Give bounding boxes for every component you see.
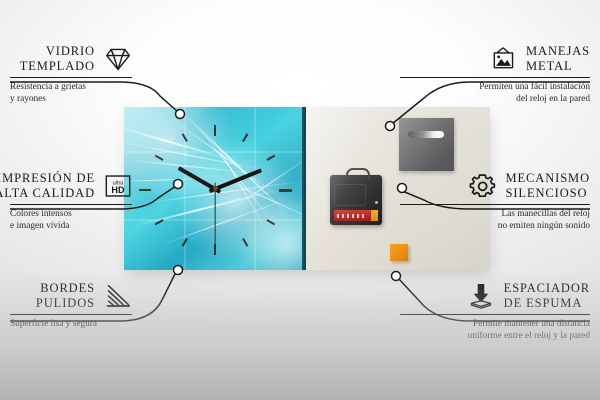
feature-title-line1: VIDRIO bbox=[20, 44, 95, 59]
feature-manejas-metal: MANEJAS METAL Permiten una fácil instala… bbox=[400, 44, 590, 106]
feature-title-line1: BORDES bbox=[36, 281, 95, 296]
feature-title-line1: ESPACIADOR bbox=[504, 281, 590, 296]
feature-desc-line2: y rayones bbox=[10, 94, 132, 106]
feature-title-line2: ALTA CALIDAD bbox=[0, 186, 95, 201]
feature-title: MECANISMO SILENCIOSO bbox=[506, 171, 591, 201]
battery-positive-tip bbox=[371, 210, 378, 221]
feature-underline bbox=[400, 77, 590, 78]
infographic-canvas: VIDRIO TEMPLADO Resistencia a grietas y … bbox=[0, 0, 600, 400]
feature-espaciador-espuma: ESPACIADOR DE ESPUMA Permite mantener un… bbox=[400, 281, 590, 343]
feature-title: VIDRIO TEMPLADO bbox=[20, 44, 95, 74]
glass-pane-seam bbox=[124, 151, 306, 153]
feature-title-line2: SILENCIOSO bbox=[506, 186, 591, 201]
metal-hanger-plate bbox=[399, 118, 454, 171]
feature-desc-line1: Permite mantener una distancia bbox=[400, 319, 590, 331]
glass-pane-seam bbox=[254, 107, 256, 270]
feature-underline bbox=[400, 314, 590, 315]
battery-label-stripes bbox=[337, 214, 367, 218]
hour-tick-9 bbox=[139, 189, 151, 191]
ultra-hd-icon-bottom-text: HD bbox=[111, 185, 125, 195]
diamond-icon bbox=[104, 46, 132, 72]
feature-desc-line1: Permiten una fácil instalación bbox=[400, 82, 590, 94]
feature-title: BORDES PULIDOS bbox=[36, 281, 95, 311]
feature-title-line1: MECANISMO bbox=[506, 171, 591, 186]
clock-center-hub bbox=[213, 186, 218, 191]
feature-desc-line1: Colores intensos bbox=[10, 209, 132, 221]
feature-desc-line1: Las manecillas del reloj bbox=[400, 209, 590, 221]
clock-mechanism-box bbox=[330, 175, 382, 225]
feature-underline bbox=[10, 204, 132, 205]
feature-title: ESPACIADOR DE ESPUMA bbox=[504, 281, 590, 311]
feature-title-line2: DE ESPUMA bbox=[504, 296, 590, 311]
feature-description: Resistencia a grietas y rayones bbox=[10, 82, 132, 105]
hour-tick-12 bbox=[214, 125, 216, 136]
hour-tick-3 bbox=[279, 189, 292, 192]
battery bbox=[334, 210, 378, 221]
feature-title-line1: MANEJAS bbox=[526, 44, 590, 59]
feature-description: Las manecillas del reloj no emiten ningú… bbox=[400, 209, 590, 232]
feature-desc-line2: e imagen vívida bbox=[10, 221, 132, 233]
feature-title-line2: PULIDOS bbox=[36, 296, 95, 311]
hanger-keyhole-slot bbox=[408, 131, 444, 138]
mechanism-panel-seam bbox=[334, 184, 366, 206]
clock-front-panel bbox=[124, 107, 306, 270]
feature-underline bbox=[10, 77, 132, 78]
feature-title: MANEJAS METAL bbox=[526, 44, 590, 74]
feature-bordes-pulidos: BORDES PULIDOS Superficie lisa y segura bbox=[10, 281, 132, 331]
feature-underline bbox=[10, 314, 132, 315]
mechanism-indicator-dot bbox=[375, 201, 378, 204]
feature-description: Superficie lisa y segura bbox=[10, 319, 132, 331]
wall-frame-icon bbox=[489, 46, 517, 72]
feature-description: Colores intensos e imagen vívida bbox=[10, 209, 132, 232]
feature-title-line2: METAL bbox=[526, 59, 590, 74]
clock-second-hand bbox=[214, 183, 215, 249]
feature-title-line1: IMPRESIÓN DE bbox=[0, 171, 95, 186]
feature-desc-line2: del reloj en la pared bbox=[400, 94, 590, 106]
feature-desc-line2: no emiten ningún sonido bbox=[400, 221, 590, 233]
feature-mecanismo-silencioso: MECANISMO SILENCIOSO Las manecillas del … bbox=[400, 171, 590, 233]
feature-desc-line1: Superficie lisa y segura bbox=[10, 319, 132, 331]
feature-vidrio-templado: VIDRIO TEMPLADO Resistencia a grietas y … bbox=[10, 44, 132, 106]
foam-spacer-pad bbox=[390, 244, 408, 261]
foam-spacer-icon bbox=[467, 283, 495, 309]
ultra-hd-icon: ultra HD bbox=[104, 173, 132, 199]
feature-desc-line1: Resistencia a grietas bbox=[10, 82, 132, 94]
feature-description: Permite mantener una distancia uniforme … bbox=[400, 319, 590, 342]
feature-title: IMPRESIÓN DE ALTA CALIDAD bbox=[0, 171, 95, 201]
polished-edge-icon bbox=[104, 283, 132, 309]
feature-desc-line2: uniforme entre el reloj y la pared bbox=[400, 331, 590, 343]
feature-underline bbox=[400, 204, 590, 205]
mechanism-hang-loop bbox=[346, 168, 370, 180]
feature-title-line2: TEMPLADO bbox=[20, 59, 95, 74]
gear-icon bbox=[469, 173, 497, 199]
glass-pane-seam bbox=[184, 107, 186, 270]
feature-description: Permiten una fácil instalación del reloj… bbox=[400, 82, 590, 105]
feature-impresion-alta-calidad: IMPRESIÓN DE ALTA CALIDAD ultra HD Color… bbox=[10, 171, 132, 233]
